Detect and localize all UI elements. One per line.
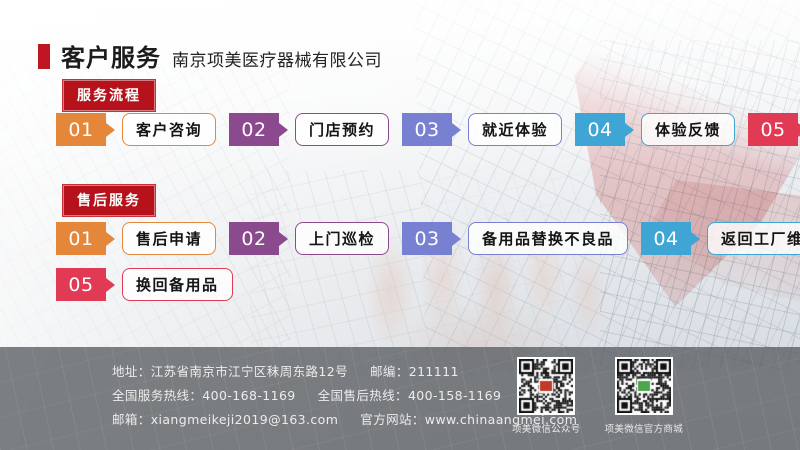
step-label: 客户咨询 (122, 113, 216, 146)
step-label: 售后申请 (122, 222, 216, 255)
footer-contact-text: 邮编：211111 (370, 360, 459, 384)
step-item: 05换回备用品 (56, 268, 233, 301)
step-label: 返回工厂维修 (707, 222, 800, 255)
step-number-badge: 04 (641, 222, 691, 255)
footer-qrcode-item: 项美微信官方商城 (605, 357, 683, 435)
step-number-text: 05 (68, 274, 93, 296)
step-row-after-sales-1: 01售后申请02上门巡检03备用品替换不良品04返回工厂维修 (56, 222, 800, 255)
step-number-text: 02 (241, 228, 266, 250)
footer-qrcode-item: 项美微信公众号 (512, 357, 581, 435)
footer-contact-line: 邮箱：xiangmeikeji2019@163.com官方网站：www.chin… (112, 408, 577, 432)
step-number-text: 01 (68, 228, 93, 250)
step-item: 04体验反馈 (575, 113, 735, 146)
step-number-text: 03 (414, 119, 439, 141)
step-number-text: 02 (241, 119, 266, 141)
step-label: 就近体验 (468, 113, 562, 146)
step-item: 02上门巡检 (229, 222, 389, 255)
poster-content: 客户服务 南京项美医疗器械有限公司 服务流程 售后服务 01客户咨询02门店预约… (0, 0, 800, 450)
step-item: 01售后申请 (56, 222, 216, 255)
title-mark-icon (38, 44, 50, 69)
step-number-text: 01 (68, 119, 93, 141)
step-number-text: 03 (414, 228, 439, 250)
footer-contact-text: 地址：江苏省南京市江宁区秣周东路12号 (112, 360, 348, 384)
step-item: 02门店预约 (229, 113, 389, 146)
step-label: 门店预约 (295, 113, 389, 146)
step-number-badge: 03 (402, 222, 452, 255)
footer-contact-line: 全国服务热线：400-168-1169全国售后热线：400-158-1169 (112, 384, 577, 408)
step-number-badge: 01 (56, 113, 106, 146)
step-row-service-flow: 01客户咨询02门店预约03就近体验04体验反馈05持续服务 (56, 113, 800, 146)
poster-canvas: 客户服务 南京项美医疗器械有限公司 服务流程 售后服务 01客户咨询02门店预约… (0, 0, 800, 450)
title-main-text: 客户服务 (61, 38, 161, 73)
step-number-badge: 01 (56, 222, 106, 255)
step-label: 体验反馈 (641, 113, 735, 146)
qr-code-caption: 项美微信公众号 (512, 421, 581, 435)
footer-contact-block: 地址：江苏省南京市江宁区秣周东路12号邮编：211111全国服务热线：400-1… (112, 360, 577, 432)
step-number-text: 04 (653, 228, 678, 250)
step-label: 上门巡检 (295, 222, 389, 255)
step-row-after-sales-2: 05换回备用品 (56, 268, 246, 301)
footer-contact-text: 全国服务热线：400-168-1169 (112, 384, 296, 408)
step-item: 03备用品替换不良品 (402, 222, 628, 255)
step-number-badge: 02 (229, 113, 279, 146)
step-number-badge: 03 (402, 113, 452, 146)
footer-contact-text: 全国售后热线：400-158-1169 (318, 384, 502, 408)
footer-bar: 地址：江苏省南京市江宁区秣周东路12号邮编：211111全国服务热线：400-1… (0, 347, 800, 450)
footer-qrcode-group: 项美微信公众号项美微信官方商城 (512, 357, 683, 435)
step-number-badge: 02 (229, 222, 279, 255)
step-number-badge: 04 (575, 113, 625, 146)
title-subtitle-text: 南京项美医疗器械有限公司 (172, 46, 382, 71)
step-number-text: 04 (587, 119, 612, 141)
step-item: 01客户咨询 (56, 113, 216, 146)
qr-code-image[interactable] (615, 357, 673, 415)
section-badge-service-flow: 服务流程 (62, 79, 156, 112)
footer-contact-line: 地址：江苏省南京市江宁区秣周东路12号邮编：211111 (112, 360, 577, 384)
step-item: 05持续服务 (748, 113, 800, 146)
step-label: 换回备用品 (122, 268, 233, 301)
step-label: 备用品替换不良品 (468, 222, 628, 255)
qr-code-image[interactable] (517, 357, 575, 415)
step-item: 04返回工厂维修 (641, 222, 800, 255)
step-item: 03就近体验 (402, 113, 562, 146)
step-number-text: 05 (760, 119, 785, 141)
step-number-badge: 05 (748, 113, 798, 146)
section-badge-after-sales: 售后服务 (62, 184, 156, 217)
page-title: 客户服务 南京项美医疗器械有限公司 (38, 38, 382, 73)
qr-code-caption: 项美微信官方商城 (605, 421, 683, 435)
footer-contact-text: 邮箱：xiangmeikeji2019@163.com (112, 408, 338, 432)
step-number-badge: 05 (56, 268, 106, 301)
